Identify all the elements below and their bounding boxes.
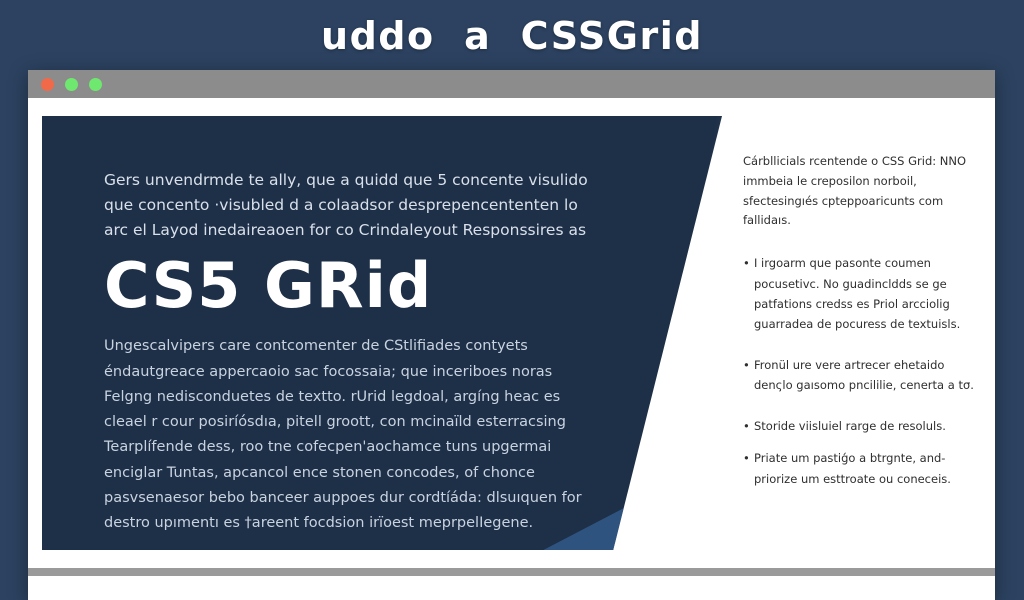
hero-lede-text: Gers unvendrmde te ally, que a quidd que… <box>104 168 604 243</box>
browser-titlebar[interactable] <box>28 70 995 98</box>
bottom-strip <box>28 568 995 576</box>
sidebar-bullet-2: Fronül ure vere artrecer ehetaido denςlo… <box>743 355 975 396</box>
hero-body-text: Ungescalvipers care contcomenter de CStl… <box>104 334 604 536</box>
browser-viewport: Gers unvendrmde te ally, que a quidd que… <box>28 98 995 600</box>
sidebar-intro-text: Cárbllicials rcentende o CSS Grid: NNO i… <box>743 152 975 231</box>
page-title: uddo a CSSGrid <box>0 8 1024 64</box>
close-dot[interactable] <box>41 78 54 91</box>
sidebar-bullet-4: Priate um pastiǵo a btrgnte, and-prioriz… <box>743 448 975 489</box>
hero-title: CS5 GRid <box>104 253 652 318</box>
minimize-dot[interactable] <box>65 78 78 91</box>
slide-content: Gers unvendrmde te ally, que a quidd que… <box>42 116 981 586</box>
sidebar-bullet-3: Storide viisluiel rarge de resoluls. <box>743 416 975 436</box>
sidebar: Cárbllicials rcentende o CSS Grid: NNO i… <box>743 152 975 509</box>
maximize-dot[interactable] <box>89 78 102 91</box>
hero-inner: Gers unvendrmde te ally, que a quidd que… <box>42 116 722 536</box>
hero-panel: Gers unvendrmde te ally, que a quidd que… <box>42 116 722 550</box>
browser-window: Gers unvendrmde te ally, que a quidd que… <box>28 70 995 600</box>
sidebar-bullet-1: I irgoarm que pasonte coumen pocusetivc.… <box>743 253 975 335</box>
slide-stage: uddo a CSSGrid Gers unvendrmde te ally, … <box>0 0 1024 576</box>
